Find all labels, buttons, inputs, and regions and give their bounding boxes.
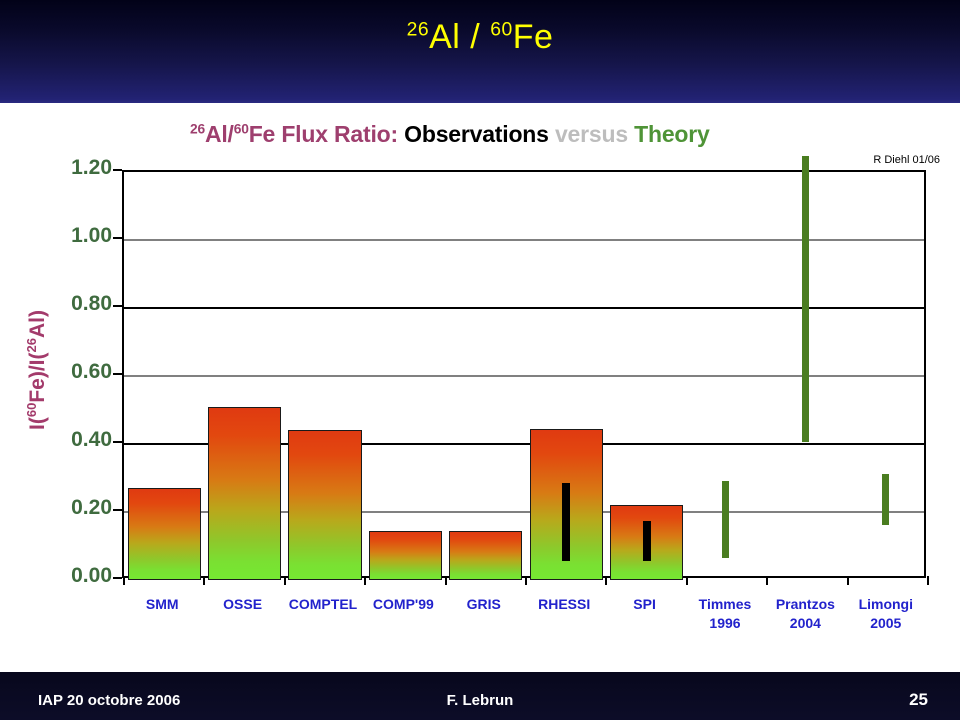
slide-title-sup-60: 60 bbox=[490, 19, 513, 41]
slide-title-end: Fe bbox=[513, 18, 554, 56]
slide-header-band: 26Al / 60Fe bbox=[0, 0, 960, 103]
x-tick-label-line1: GRIS bbox=[467, 596, 501, 612]
x-tick-label-line1: SMM bbox=[146, 596, 179, 612]
bar-gris bbox=[449, 531, 522, 580]
y-axis-title-sup-60: 60 bbox=[24, 403, 39, 417]
x-tick-label-line1: OSSE bbox=[223, 596, 262, 612]
y-tick-label: 0.00 bbox=[34, 564, 112, 588]
x-tick-mark bbox=[123, 576, 125, 585]
chart-title-sup-26: 26 bbox=[190, 121, 205, 136]
y-tick-mark bbox=[113, 441, 122, 443]
chart-title-versus: versus bbox=[549, 121, 634, 147]
y-tick-label: 1.00 bbox=[34, 224, 112, 248]
chart-title-al: Al/ bbox=[205, 121, 234, 147]
x-tick-label-line2: 2005 bbox=[826, 614, 946, 633]
chart-title: 26Al/60Fe Flux Ratio: Observations versu… bbox=[190, 121, 710, 148]
x-tick-mark bbox=[927, 576, 929, 585]
bar-osse bbox=[208, 407, 281, 580]
chart-title-observations: Observations bbox=[404, 121, 549, 147]
slide-footer-band: IAP 20 octobre 2006 F. Lebrun 25 bbox=[0, 672, 960, 720]
x-tick-label-line1: SPI bbox=[633, 596, 656, 612]
theory-range-limongi-2005 bbox=[882, 474, 889, 525]
chart-title-fluxratio: Fe Flux Ratio: bbox=[249, 121, 404, 147]
credit-label: R Diehl 01/06 bbox=[873, 154, 940, 166]
x-tick-label-line1: RHESSI bbox=[538, 596, 590, 612]
y-tick-label: 0.60 bbox=[34, 360, 112, 384]
y-tick-label: 0.80 bbox=[34, 292, 112, 316]
x-tick-label-line1: Timmes bbox=[699, 596, 752, 612]
x-tick-mark bbox=[605, 576, 607, 585]
y-tick-label: 1.20 bbox=[34, 156, 112, 180]
x-tick-label-line1: Limongi bbox=[859, 596, 913, 612]
x-tick-mark bbox=[686, 576, 688, 585]
y-tick-label: 0.40 bbox=[34, 428, 112, 452]
theory-range-timmes-1996 bbox=[722, 481, 729, 558]
x-tick-mark bbox=[284, 576, 286, 585]
error-bar-spi bbox=[643, 521, 651, 562]
x-tick-mark bbox=[847, 576, 849, 585]
x-tick-label-limongi-2005: Limongi2005 bbox=[826, 595, 946, 633]
x-tick-mark bbox=[364, 576, 366, 585]
slide-title-sup-26: 26 bbox=[407, 19, 430, 41]
x-tick-mark bbox=[445, 576, 447, 585]
y-tick-mark bbox=[113, 373, 122, 375]
x-tick-mark bbox=[203, 576, 205, 585]
y-tick-mark bbox=[113, 169, 122, 171]
y-tick-mark bbox=[113, 237, 122, 239]
slide-title-mid: Al / bbox=[429, 18, 490, 56]
y-tick-mark bbox=[113, 305, 122, 307]
bar-comptel bbox=[288, 430, 361, 580]
bar-comp-99 bbox=[369, 531, 442, 580]
theory-range-prantzos-2004 bbox=[802, 156, 809, 442]
slide-title: 26Al / 60Fe bbox=[0, 18, 960, 57]
footer-author: F. Lebrun bbox=[0, 692, 960, 709]
chart-title-theory: Theory bbox=[634, 121, 709, 147]
y-tick-label: 0.20 bbox=[34, 496, 112, 520]
y-tick-mark bbox=[113, 509, 122, 511]
x-tick-mark bbox=[525, 576, 527, 585]
x-tick-mark bbox=[766, 576, 768, 585]
y-tick-mark bbox=[113, 577, 122, 579]
bar-smm bbox=[128, 488, 201, 580]
chart-title-sup-60: 60 bbox=[234, 121, 249, 136]
error-bar-rhessi bbox=[562, 483, 570, 561]
y-axis-title-sup-26: 26 bbox=[24, 338, 39, 352]
chart-block: 26Al/60Fe Flux Ratio: Observations versu… bbox=[0, 103, 960, 672]
footer-page-number: 25 bbox=[909, 690, 928, 710]
